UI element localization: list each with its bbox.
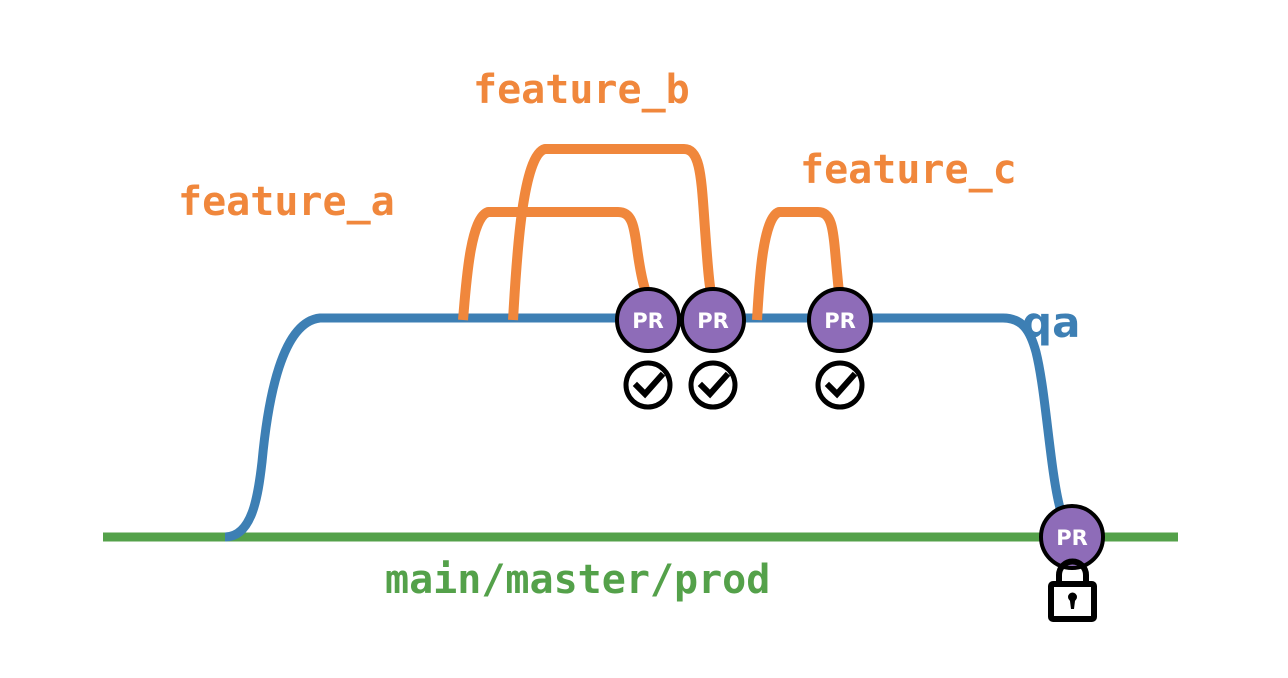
- feature-a-branch-line: [463, 212, 646, 320]
- diagram-canvas: PR PR PR PR: [0, 0, 1288, 678]
- status-check-group: [626, 363, 862, 407]
- check-circle-icon[interactable]: [626, 363, 670, 407]
- branch-label-qa: qa: [1022, 298, 1080, 347]
- pr-node-feature-b[interactable]: PR: [682, 289, 744, 351]
- branch-label-feature-a: feature_a: [178, 179, 395, 225]
- check-circle-icon[interactable]: [691, 363, 735, 407]
- branch-label-feature-b: feature_b: [473, 67, 690, 113]
- pr-node-label: PR: [824, 309, 856, 333]
- branch-label-main: main/master/prod: [385, 557, 770, 603]
- pr-node-label: PR: [632, 309, 664, 333]
- branch-label-feature-c: feature_c: [800, 147, 1017, 193]
- check-circle-icon[interactable]: [818, 363, 862, 407]
- git-branching-diagram: PR PR PR PR: [0, 0, 1288, 678]
- pr-node-label: PR: [697, 309, 729, 333]
- pr-node-feature-c[interactable]: PR: [809, 289, 871, 351]
- pr-node-label: PR: [1056, 526, 1088, 550]
- feature-b-branch-line: [513, 149, 711, 320]
- pr-node-feature-a[interactable]: PR: [617, 289, 679, 351]
- padlock-icon[interactable]: [1051, 562, 1094, 620]
